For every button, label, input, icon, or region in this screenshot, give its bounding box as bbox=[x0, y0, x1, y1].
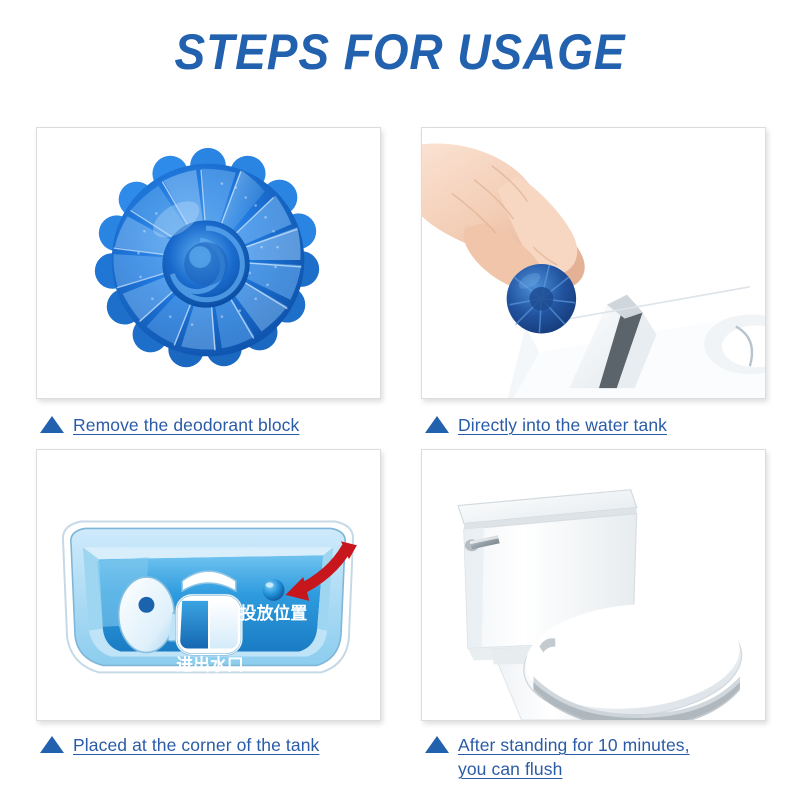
placement-label: 投放位置 bbox=[240, 603, 308, 623]
deodorant-block-photo bbox=[37, 128, 380, 398]
caption-line: Placed at the corner of the tank bbox=[73, 733, 319, 757]
caption-line: Directly into the water tank bbox=[458, 413, 667, 437]
steps-grid: Remove the deodorant block bbox=[36, 127, 766, 781]
step-2-caption: Directly into the water tank bbox=[421, 413, 766, 437]
triangle-up-icon bbox=[40, 416, 64, 433]
flush-button bbox=[176, 595, 242, 655]
toilet-photo bbox=[422, 450, 765, 720]
step-1-image-card bbox=[36, 127, 381, 399]
step-3-caption-text: Placed at the corner of the tank bbox=[73, 733, 319, 757]
placement-ball bbox=[263, 579, 285, 601]
triangle-up-icon bbox=[425, 416, 449, 433]
deodorant-block-small bbox=[507, 264, 576, 333]
step-4-image-card bbox=[421, 449, 766, 721]
triangle-up-icon bbox=[40, 736, 64, 753]
step-1-caption-text: Remove the deodorant block bbox=[73, 413, 299, 437]
step-1-caption: Remove the deodorant block bbox=[36, 413, 381, 437]
step-2-caption-text: Directly into the water tank bbox=[458, 413, 667, 437]
step-2-image-card bbox=[421, 127, 766, 399]
step-4-caption-text: After standing for 10 minutes, you can f… bbox=[458, 733, 690, 781]
step-4-caption: After standing for 10 minutes, you can f… bbox=[421, 733, 766, 781]
triangle-up-icon bbox=[425, 736, 449, 753]
infographic-page: STEPS FOR USAGE bbox=[0, 0, 800, 800]
step-3-image-card: 投放位置 进出水口 bbox=[36, 449, 381, 721]
water-port-label: 进出水口 bbox=[176, 654, 243, 674]
tank-placement-diagram: 投放位置 进出水口 bbox=[37, 450, 380, 720]
page-title: STEPS FOR USAGE bbox=[32, 24, 768, 80]
caption-line: Remove the deodorant block bbox=[73, 413, 299, 437]
step-2: Directly into the water tank bbox=[421, 127, 766, 437]
step-3-caption: Placed at the corner of the tank bbox=[36, 733, 381, 757]
hand-dropping-block-photo bbox=[422, 128, 765, 398]
step-3: 投放位置 进出水口 Placed at the corner of the ta… bbox=[36, 449, 381, 781]
caption-line: After standing for 10 minutes, bbox=[458, 733, 690, 757]
caption-line: you can flush bbox=[458, 757, 562, 781]
step-1: Remove the deodorant block bbox=[36, 127, 381, 437]
step-4: After standing for 10 minutes, you can f… bbox=[421, 449, 766, 781]
